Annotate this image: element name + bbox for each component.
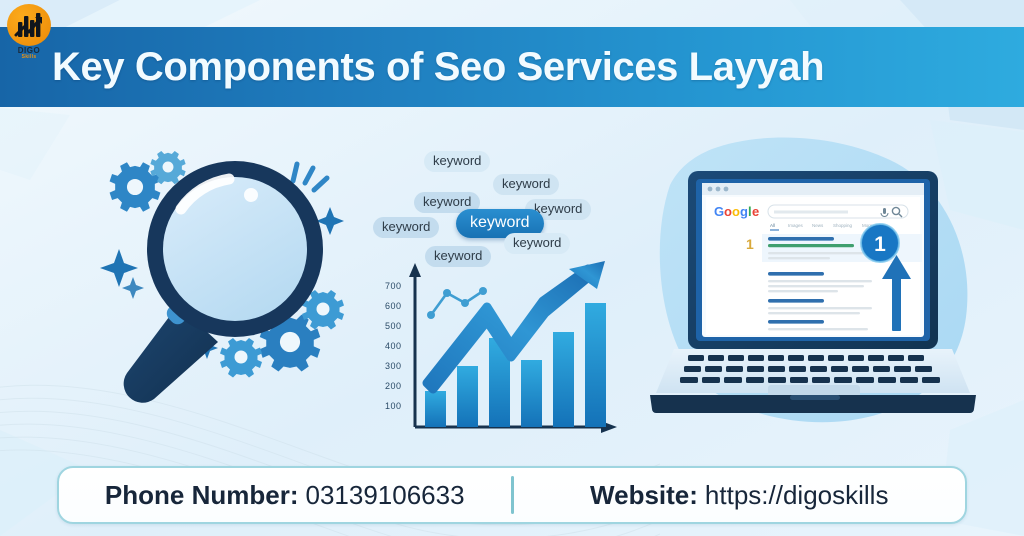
phone-cell[interactable]: Phone Number: 03139106633 bbox=[59, 480, 511, 511]
keyword-bubble[interactable]: keyword bbox=[424, 151, 490, 172]
rank-badge-label: 1 bbox=[874, 233, 886, 256]
svg-text:G: G bbox=[714, 204, 724, 219]
y-axis-labels: 700 600 500 400 300 200 100 bbox=[385, 281, 402, 411]
header-bar: Key Components of Seo Services Layyah bbox=[0, 27, 1024, 107]
contact-bar: Phone Number: 03139106633 Website: https… bbox=[57, 466, 967, 524]
rank-badge: 1 bbox=[861, 224, 899, 262]
keyword-bubble[interactable]: keyword bbox=[504, 233, 570, 254]
phone-value: 03139106633 bbox=[306, 480, 465, 511]
digo-logo[interactable]: DIGO Skills bbox=[3, 4, 55, 60]
keyword-bubble[interactable]: keyword bbox=[493, 174, 559, 195]
website-label: Website: bbox=[590, 480, 698, 511]
y-tick-500: 500 bbox=[385, 321, 402, 331]
svg-text:g: g bbox=[740, 204, 748, 219]
y-tick-400: 400 bbox=[385, 341, 402, 351]
magnifier-illustration bbox=[55, 137, 385, 447]
website-cell[interactable]: Website: https://digoskills bbox=[514, 480, 966, 511]
tab-all: All bbox=[770, 223, 775, 228]
bar-4 bbox=[521, 360, 542, 427]
keyword-cloud: keyword keyword keyword keyword keyword … bbox=[370, 145, 610, 270]
y-tick-300: 300 bbox=[385, 361, 402, 371]
page-title: Key Components of Seo Services Layyah bbox=[52, 45, 824, 90]
svg-text:e: e bbox=[752, 204, 759, 219]
tab-shopping: Shopping bbox=[833, 223, 853, 228]
bar-5 bbox=[553, 332, 574, 427]
y-tick-700: 700 bbox=[385, 281, 402, 291]
y-tick-600: 600 bbox=[385, 301, 402, 311]
tab-news: News bbox=[812, 223, 824, 228]
logo-circle-icon bbox=[7, 4, 51, 46]
gear-icon-bottom-left bbox=[220, 338, 262, 378]
seo-banner: DIGO Skills Key Components of Seo Servic… bbox=[0, 0, 1024, 536]
y-tick-100: 100 bbox=[385, 401, 402, 411]
bar-1 bbox=[425, 391, 446, 427]
y-tick-200: 200 bbox=[385, 381, 402, 391]
tab-images: Images bbox=[788, 223, 804, 228]
magnifier-lens bbox=[147, 161, 323, 337]
phone-label: Phone Number: bbox=[105, 480, 299, 511]
growth-arrow bbox=[427, 261, 605, 389]
google-logo: G o o g l e bbox=[714, 204, 759, 219]
shine-lines bbox=[293, 164, 327, 190]
growth-bar-chart: 700 600 500 400 300 200 100 bbox=[383, 257, 623, 452]
illustration-area: keyword keyword keyword keyword keyword … bbox=[0, 107, 1024, 462]
bar-6 bbox=[585, 303, 606, 427]
keyword-bubble[interactable]: keyword bbox=[373, 217, 439, 238]
laptop-illustration: G o o g l e All Images News bbox=[640, 127, 985, 447]
browser-traffic-lights[interactable] bbox=[708, 187, 729, 192]
logo-subtext: Skills bbox=[22, 55, 37, 60]
bar-2 bbox=[457, 366, 478, 427]
svg-text:o: o bbox=[732, 204, 740, 219]
gear-icon bbox=[110, 162, 161, 212]
serp-rank-number: 1 bbox=[746, 236, 754, 252]
website-value: https://digoskills bbox=[705, 480, 889, 511]
svg-text:o: o bbox=[724, 204, 732, 219]
